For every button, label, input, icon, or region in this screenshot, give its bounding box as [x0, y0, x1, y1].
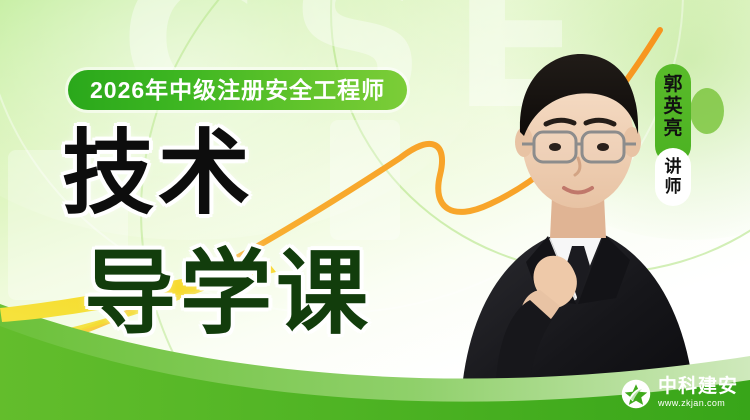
instructor-role: 讲 师 — [655, 148, 691, 206]
instructor-role-char-2: 师 — [665, 177, 682, 197]
brand-logo: 中科建安 www.zkjan.com — [621, 377, 738, 410]
instructor-name-char-2: 英 — [663, 96, 682, 118]
headline-line-2: 导学课 — [84, 246, 372, 344]
instructor-name-char-3: 亮 — [663, 118, 682, 140]
logo-name: 中科建安 — [658, 377, 738, 397]
course-badge-label: 2026年中级注册安全工程师 — [90, 79, 385, 102]
logo-text-block: 中科建安 www.zkjan.com — [658, 377, 738, 410]
course-promo-banner: CSE — [0, 0, 750, 420]
headline: 技术 导学课 — [62, 126, 372, 343]
instructor-name-char-1: 郭 — [663, 74, 682, 96]
zkjan-logo-icon — [621, 379, 651, 409]
instructor-badge: 郭 英 亮 讲 师 — [655, 64, 691, 164]
course-badge: 2026年中级注册安全工程师 — [68, 70, 407, 110]
headline-line-1: 技术 — [62, 126, 372, 224]
instructor-role-char-1: 讲 — [665, 157, 682, 177]
logo-url: www.zkjan.com — [658, 398, 738, 410]
